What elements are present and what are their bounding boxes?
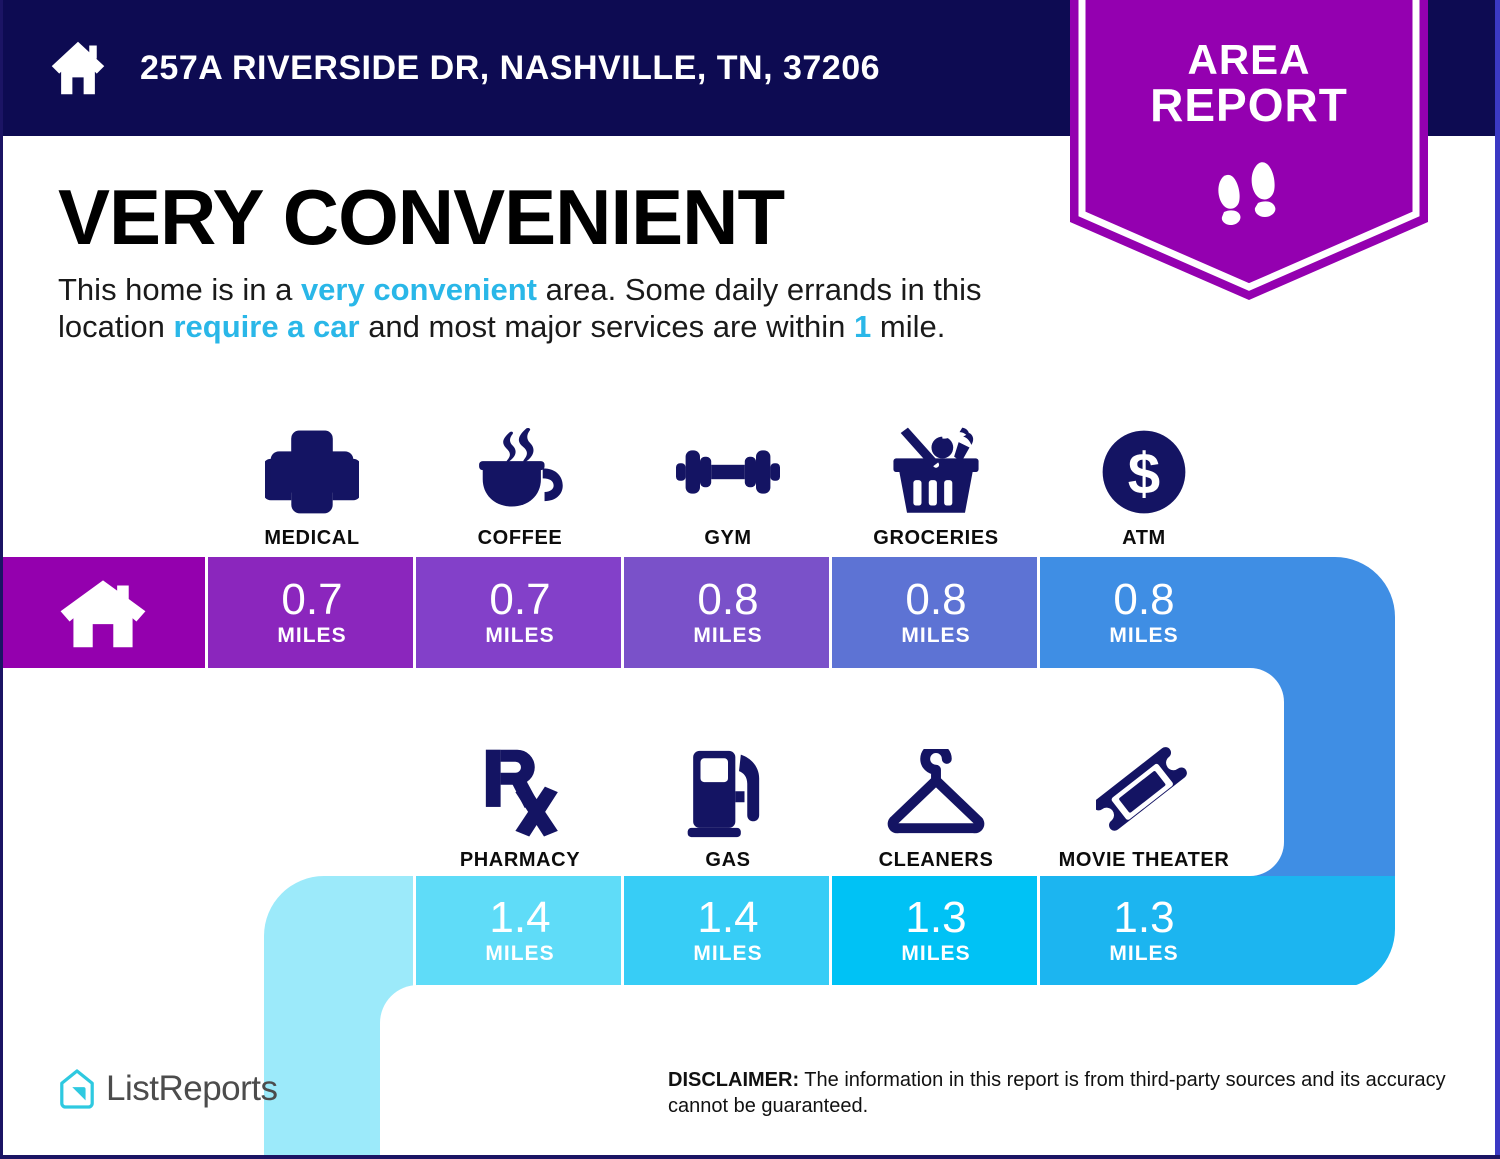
distance-unit: MILES: [693, 624, 762, 648]
distance-row-2: 1.4 MILES 1.4 MILES 1.3 MILES 1.3 MILES: [416, 876, 1248, 985]
desc-part-3: and most major services are within: [360, 309, 854, 344]
distance-value: 0.8: [905, 578, 966, 622]
desc-highlight-2: require a car: [173, 309, 359, 344]
area-report-badge: AREA REPORT: [1070, 0, 1428, 300]
amenity-groceries: GROCERIES: [832, 400, 1040, 550]
distance-cell: 1.4 MILES: [416, 876, 624, 985]
dumbbell-icon: [676, 423, 780, 521]
right-page-edge: [1495, 0, 1500, 1159]
distance-value: 0.7: [281, 578, 342, 622]
desc-highlight-1: very convenient: [301, 272, 537, 307]
amenity-pharmacy: PHARMACY: [416, 722, 624, 872]
footprints-icon: [1212, 160, 1286, 230]
desc-part-1: This home is in a: [58, 272, 301, 307]
distance-value: 0.7: [489, 578, 550, 622]
amenity-label: MEDICAL: [264, 527, 359, 550]
distance-value: 1.3: [905, 896, 966, 940]
distance-value: 0.8: [1113, 578, 1174, 622]
listreports-wordmark: ListReports: [106, 1069, 278, 1109]
distance-unit: MILES: [277, 624, 346, 648]
property-address: 257A RIVERSIDE DR, NASHVILLE, TN, 37206: [140, 49, 880, 88]
distance-cell: 0.8 MILES: [1040, 557, 1248, 668]
distance-value: 1.4: [697, 896, 758, 940]
distance-value: 0.8: [697, 578, 758, 622]
disclaimer-label: DISCLAIMER:: [668, 1069, 799, 1091]
amenity-movie-theater: MOVIE THEATER: [1040, 722, 1248, 872]
left-page-edge: [0, 0, 3, 1159]
medical-cross-icon: [265, 423, 359, 521]
distance-value: 1.4: [489, 896, 550, 940]
amenity-medical: MEDICAL: [208, 400, 416, 550]
page-title: VERY CONVENIENT: [58, 178, 784, 256]
badge-title: AREA REPORT: [1070, 38, 1428, 130]
amenity-atm: $ ATM: [1040, 400, 1248, 550]
distance-cell: 1.3 MILES: [832, 876, 1040, 985]
amenity-label: COFFEE: [478, 527, 563, 550]
distance-unit: MILES: [901, 624, 970, 648]
distance-unit: MILES: [485, 624, 554, 648]
home-icon: [58, 575, 148, 650]
disclaimer: DISCLAIMER: The information in this repo…: [668, 1068, 1458, 1119]
distance-unit: MILES: [901, 942, 970, 966]
movie-ticket-icon: [1096, 745, 1192, 843]
badge-line-1: AREA: [1187, 36, 1310, 83]
page-description: This home is in a very convenient area. …: [58, 272, 1058, 345]
area-report-page: 257A RIVERSIDE DR, NASHVILLE, TN, 37206 …: [0, 0, 1500, 1159]
clothes-hanger-icon: [882, 745, 990, 843]
amenity-label: CLEANERS: [879, 849, 994, 872]
amenity-coffee: COFFEE: [416, 400, 624, 550]
svg-text:$: $: [1128, 442, 1160, 507]
amenity-label: GYM: [704, 527, 751, 550]
distance-unit: MILES: [485, 942, 554, 966]
amenity-icon-row-1: MEDICAL COFFEE: [208, 400, 1248, 550]
distance-cell: 1.4 MILES: [624, 876, 832, 985]
badge-line-2: REPORT: [1070, 82, 1428, 130]
amenity-gym: GYM: [624, 400, 832, 550]
distance-unit: MILES: [1109, 624, 1178, 648]
bottom-page-edge: [0, 1155, 1500, 1159]
amenity-gas: GAS: [624, 722, 832, 872]
amenity-label: GROCERIES: [873, 527, 998, 550]
amenity-label: PHARMACY: [460, 849, 580, 872]
listreports-house-icon: [58, 1068, 96, 1110]
grocery-basket-icon: [886, 423, 986, 521]
amenity-cleaners: CLEANERS: [832, 722, 1040, 872]
listreports-logo[interactable]: ListReports: [58, 1068, 278, 1110]
desc-highlight-3: 1: [854, 309, 871, 344]
distance-cell: 0.7 MILES: [208, 557, 416, 668]
distance-row-1: 0.7 MILES 0.7 MILES 0.8 MILES 0.8 MILES …: [208, 557, 1248, 668]
distance-value: 1.3: [1113, 896, 1174, 940]
distance-cell: 0.8 MILES: [832, 557, 1040, 668]
distance-cell: 0.8 MILES: [624, 557, 832, 668]
desc-part-4: mile.: [871, 309, 945, 344]
home-icon: [48, 38, 108, 98]
distance-unit: MILES: [693, 942, 762, 966]
distance-unit: MILES: [1109, 942, 1178, 966]
amenity-label: GAS: [705, 849, 750, 872]
dollar-circle-icon: $: [1097, 423, 1191, 521]
amenity-label: MOVIE THEATER: [1059, 849, 1230, 872]
amenity-label: ATM: [1122, 527, 1166, 550]
amenity-icon-row-2: PHARMACY GAS: [416, 722, 1248, 872]
coffee-cup-icon: [470, 423, 570, 521]
distance-cell: 1.3 MILES: [1040, 876, 1248, 985]
gas-pump-icon: [684, 745, 772, 843]
rx-icon: [478, 745, 562, 843]
distance-cell: 0.7 MILES: [416, 557, 624, 668]
